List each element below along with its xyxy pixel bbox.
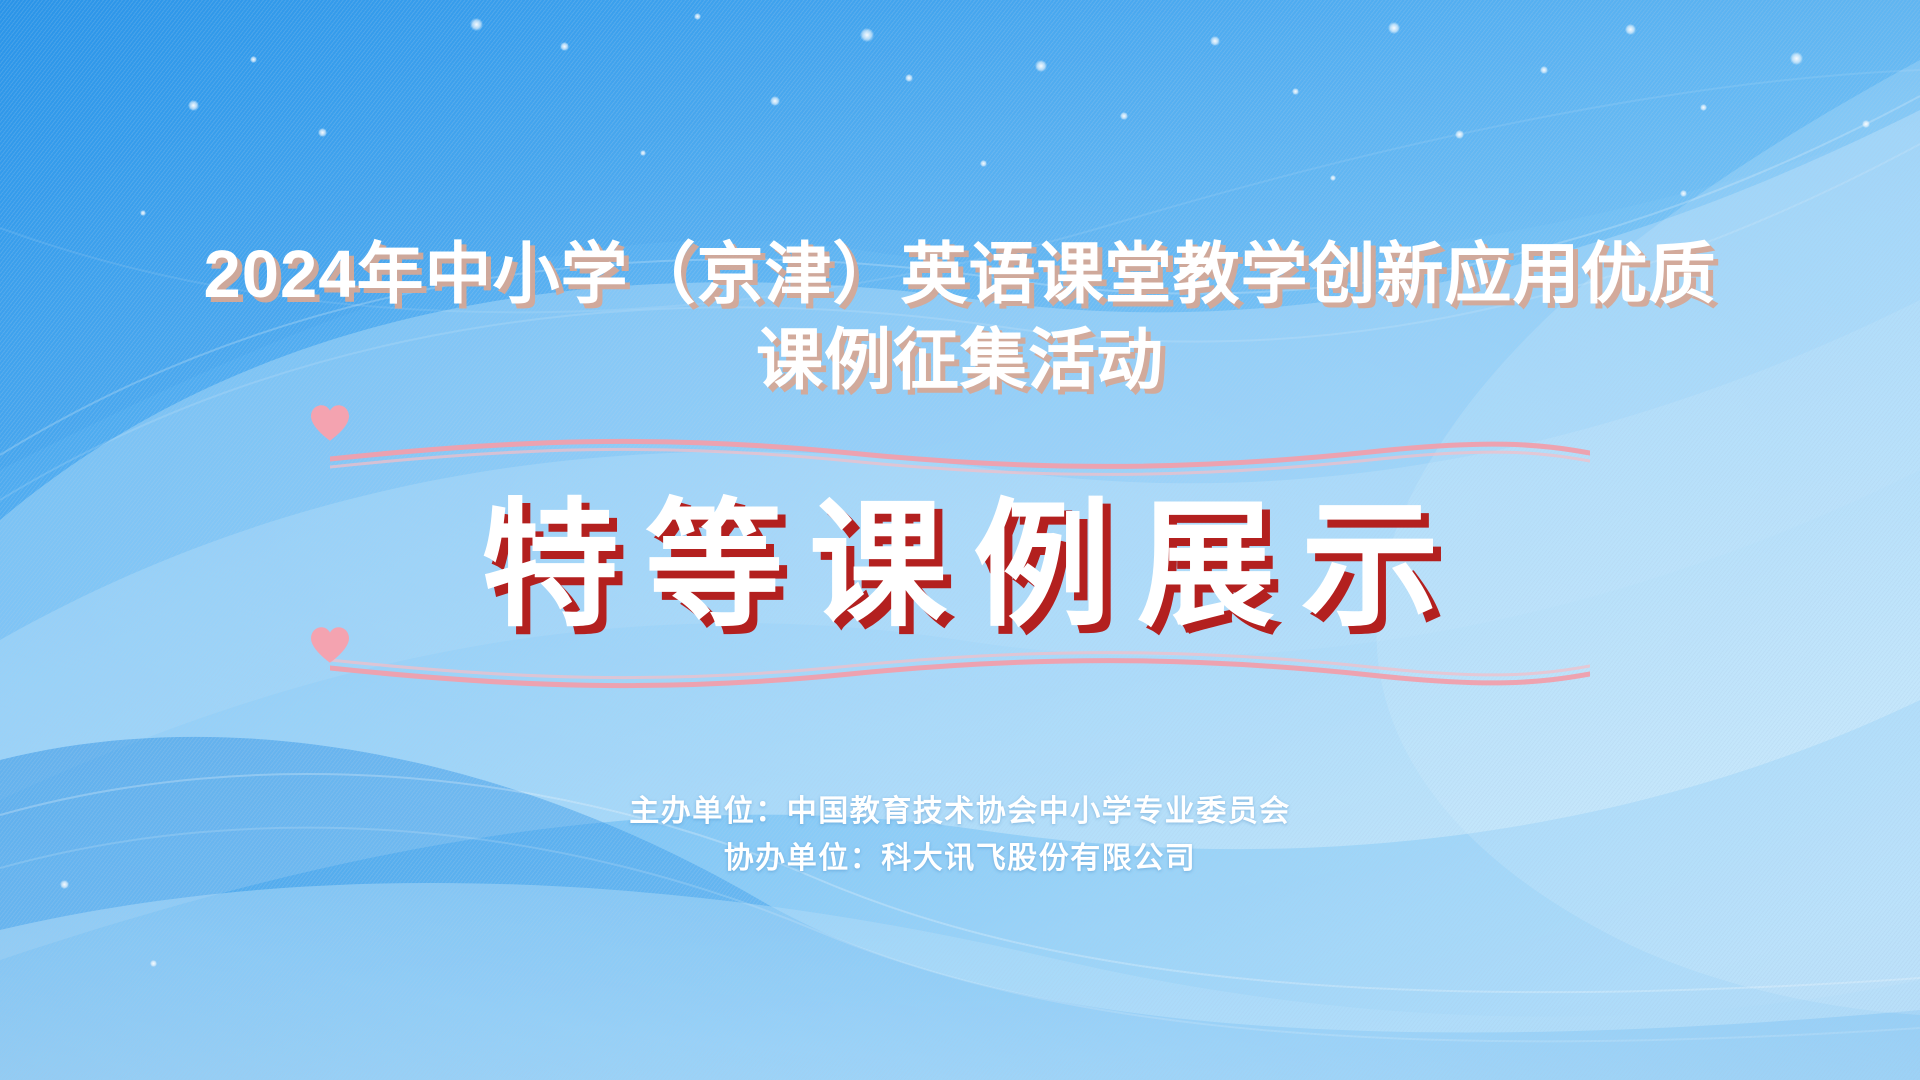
slide-canvas: 2024年中小学（京津）英语课堂教学创新应用优质 课例征集活动 特等课例展示 主: [0, 0, 1920, 1080]
divider-bottom: [330, 648, 1590, 702]
organizer-block: 主办单位：中国教育技术协会中小学专业委员会 协办单位：科大讯飞股份有限公司: [629, 788, 1291, 882]
event-title: 2024年中小学（京津）英语课堂教学创新应用优质 课例征集活动: [0, 232, 1920, 404]
slide-content: 2024年中小学（京津）英语课堂教学创新应用优质 课例征集活动 特等课例展示 主: [0, 0, 1920, 1080]
event-title-line-1: 2024年中小学（京津）英语课堂教学创新应用优质: [0, 232, 1920, 318]
heart-icon: [309, 404, 351, 442]
organizer-line-cohost: 协办单位：科大讯飞股份有限公司: [629, 835, 1291, 882]
divider-top: [330, 426, 1590, 480]
main-heading: 特等课例展示: [455, 490, 1465, 642]
heart-icon: [309, 626, 351, 664]
event-title-line-2: 课例征集活动: [0, 318, 1920, 404]
organizer-line-host: 主办单位：中国教育技术协会中小学专业委员会: [629, 788, 1291, 835]
